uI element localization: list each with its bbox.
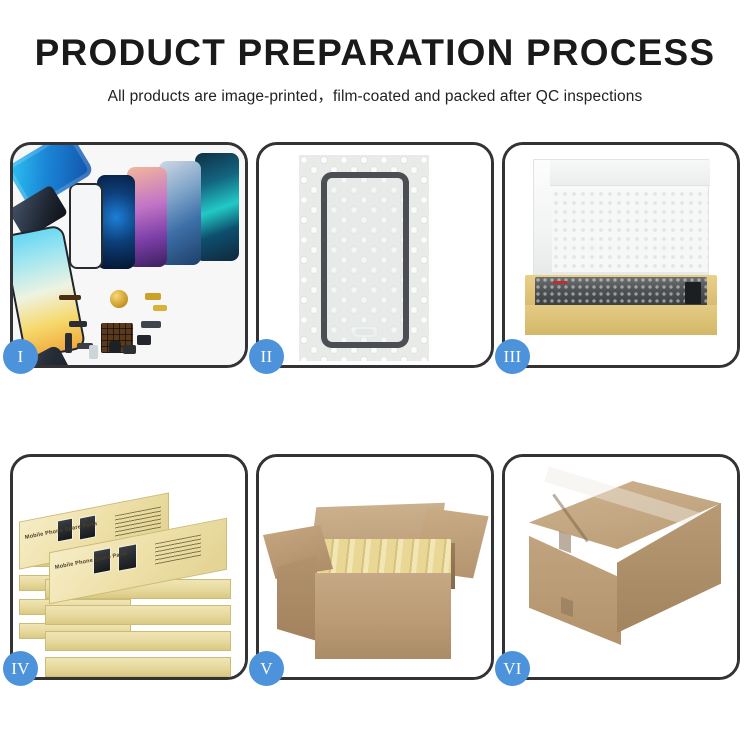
process-step-5[interactable]: V — [256, 454, 494, 680]
foam-sheet — [552, 190, 708, 272]
step-2-image — [259, 145, 491, 365]
step-6-image — [505, 457, 737, 677]
box-front-panel — [525, 305, 717, 335]
vibration-motor-part — [110, 290, 128, 308]
screen-in-box — [535, 277, 707, 307]
step-1-image — [13, 145, 245, 365]
step-badge-3: III — [495, 339, 530, 374]
process-step-1[interactable]: I — [10, 142, 248, 368]
process-step-4[interactable]: Mobile Phone Spare Parts Mobile Phone Sp… — [10, 454, 248, 680]
speaker-part — [59, 295, 81, 300]
step-badge-1: I — [3, 339, 38, 374]
taptic-part — [109, 341, 121, 353]
box-lid — [533, 159, 709, 279]
page-title: PRODUCT PREPARATION PROCESS — [0, 34, 750, 73]
carton-front-panel — [315, 573, 451, 659]
page-subtitle: All products are image-printed，film-coat… — [0, 84, 750, 106]
step-badge-2: II — [249, 339, 284, 374]
step-badge-5: V — [249, 651, 284, 686]
screen-connector — [685, 282, 701, 304]
home-button — [353, 327, 377, 337]
box-stack: Mobile Phone Spare Parts Mobile Phone Sp… — [19, 479, 239, 665]
stacked-box — [45, 657, 231, 677]
process-step-grid: I II — [10, 142, 740, 680]
step-badge-6: VI — [495, 651, 530, 686]
bubble-wrap-photo — [299, 155, 429, 361]
open-carton — [277, 495, 477, 667]
flex-cable-part-b — [153, 305, 167, 311]
phone-teal — [195, 153, 239, 261]
red-marker — [553, 281, 567, 284]
earpiece-part — [123, 345, 136, 354]
kraft-box-open — [525, 159, 717, 349]
stacked-box — [45, 631, 231, 651]
stacked-box — [45, 605, 231, 625]
step-4-image: Mobile Phone Spare Parts Mobile Phone Sp… — [13, 457, 245, 677]
box-lid-fold — [550, 160, 710, 186]
process-step-6[interactable]: VI — [502, 454, 740, 680]
side-button-part — [65, 333, 72, 353]
camera-module-part — [137, 335, 151, 345]
process-step-2[interactable]: II — [256, 142, 494, 368]
step-5-image — [259, 457, 491, 677]
phone-glass-panel — [69, 183, 103, 269]
page-header: PRODUCT PREPARATION PROCESS All products… — [0, 0, 750, 106]
process-step-3[interactable]: III — [502, 142, 740, 368]
wrapped-screen — [321, 172, 409, 348]
step-badge-4: IV — [3, 651, 38, 686]
flex-cable-part-a — [145, 293, 161, 300]
sealed-carton — [529, 481, 721, 657]
carton-side-panel — [277, 555, 317, 641]
carton-tab-upper — [559, 531, 571, 553]
step-3-image — [505, 145, 737, 365]
button-flex-part — [69, 321, 87, 327]
camera-flex-part — [141, 321, 161, 328]
sim-tray-part — [89, 345, 98, 359]
